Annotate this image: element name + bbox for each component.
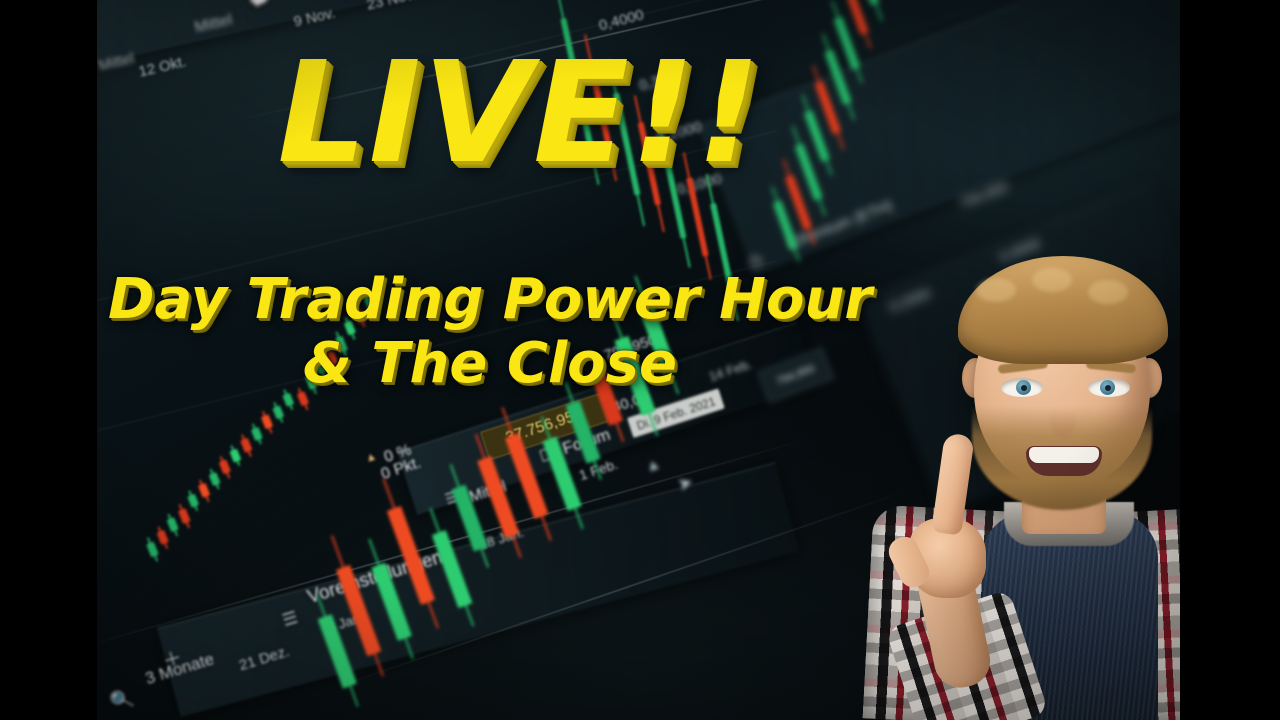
letterbox-left [0,0,97,720]
price-axis-0-3000: 0,3000 [637,66,686,94]
teeth [1029,447,1099,463]
gridline-a [97,131,776,301]
bell-icon: ▲ [643,455,664,477]
youtube-thumbnail: Mittel Mittel 12 Okt. 9 Nov. 23 Nov. 💬 0… [0,0,1280,720]
pupil-left [1021,385,1027,391]
hair-highlight-3 [1088,280,1128,304]
nose [1050,396,1076,438]
search-icon: 🔍 [107,685,137,715]
hair [958,256,1168,364]
pupil-right [1105,385,1111,391]
triangle-up-icon: ▲ [363,448,379,465]
letterbox-right [1180,0,1280,720]
label-12-okt: 12 Okt. [137,53,188,80]
hair-highlight-1 [976,278,1016,302]
hair-highlight-2 [1032,268,1072,292]
label-23-nov: 23 Nov. [365,0,418,14]
price-axis-0-1000: 0,1000 [675,170,724,198]
smiling-mouth [1026,446,1102,476]
